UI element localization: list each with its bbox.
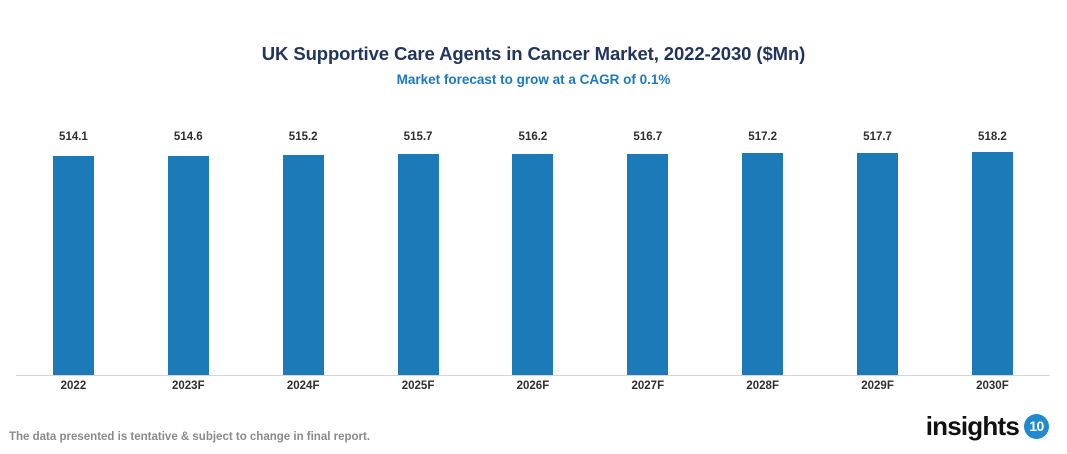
x-axis-line	[16, 375, 1050, 376]
category-label-2026F: 2026F	[476, 378, 590, 396]
bar-group: 516.7	[591, 130, 705, 375]
bar-2026F[interactable]	[512, 154, 553, 375]
bar-group: 514.1	[16, 130, 130, 375]
bar-group: 516.2	[476, 130, 590, 375]
category-label-2028F: 2028F	[706, 378, 820, 396]
disclaimer-note: The data presented is tentative & subjec…	[9, 430, 370, 445]
category-label-2029F: 2029F	[821, 378, 935, 396]
bar-value-label: 517.2	[706, 130, 820, 144]
bar-value-label: 518.2	[935, 130, 1049, 144]
logo-badge-icon: 10	[1024, 414, 1049, 439]
bar-group: 515.2	[246, 130, 360, 375]
category-label-2024F: 2024F	[246, 378, 360, 396]
chart-header: UK Supportive Care Agents in Cancer Mark…	[0, 42, 1067, 90]
bar-2030F[interactable]	[972, 152, 1013, 375]
bar-group: 517.7	[821, 130, 935, 375]
x-axis-category-labels: 2022 2023F 2024F 2025F 2026F 2027F 2028F…	[16, 378, 1050, 396]
bar-2022[interactable]	[53, 156, 94, 375]
category-label-2022: 2022	[16, 378, 130, 396]
plot-area: 514.1 514.6 515.2 515.7 516.2 516.7	[16, 130, 1050, 376]
bar-2029F[interactable]	[857, 153, 898, 376]
bar-series: 514.1 514.6 515.2 515.7 516.2 516.7	[16, 130, 1050, 375]
bar-2028F[interactable]	[742, 153, 783, 375]
category-label-2023F: 2023F	[131, 378, 245, 396]
bar-value-label: 514.1	[16, 130, 130, 144]
category-label-2025F: 2025F	[361, 378, 475, 396]
bar-2024F[interactable]	[283, 155, 324, 375]
chart-subtitle: Market forecast to grow at a CAGR of 0.1…	[0, 70, 1067, 90]
category-label-2027F: 2027F	[591, 378, 705, 396]
bar-value-label: 516.2	[476, 130, 590, 144]
bar-value-label: 514.6	[131, 130, 245, 144]
bar-value-label: 515.7	[361, 130, 475, 144]
bar-value-label: 516.7	[591, 130, 705, 144]
logo-wordmark: insights	[926, 412, 1019, 440]
bar-group: 518.2	[935, 130, 1049, 375]
bar-value-label: 515.2	[246, 130, 360, 144]
chart-title: UK Supportive Care Agents in Cancer Mark…	[0, 42, 1067, 66]
bar-2027F[interactable]	[627, 154, 668, 376]
chart-canvas: UK Supportive Care Agents in Cancer Mark…	[0, 0, 1067, 454]
bar-2025F[interactable]	[398, 154, 439, 375]
category-label-2030F: 2030F	[935, 378, 1049, 396]
bar-group: 514.6	[131, 130, 245, 375]
insights10-logo: insights 10	[926, 409, 1049, 443]
bar-group: 517.2	[706, 130, 820, 375]
bar-group: 515.7	[361, 130, 475, 375]
bar-value-label: 517.7	[821, 130, 935, 144]
bar-2023F[interactable]	[168, 156, 209, 376]
